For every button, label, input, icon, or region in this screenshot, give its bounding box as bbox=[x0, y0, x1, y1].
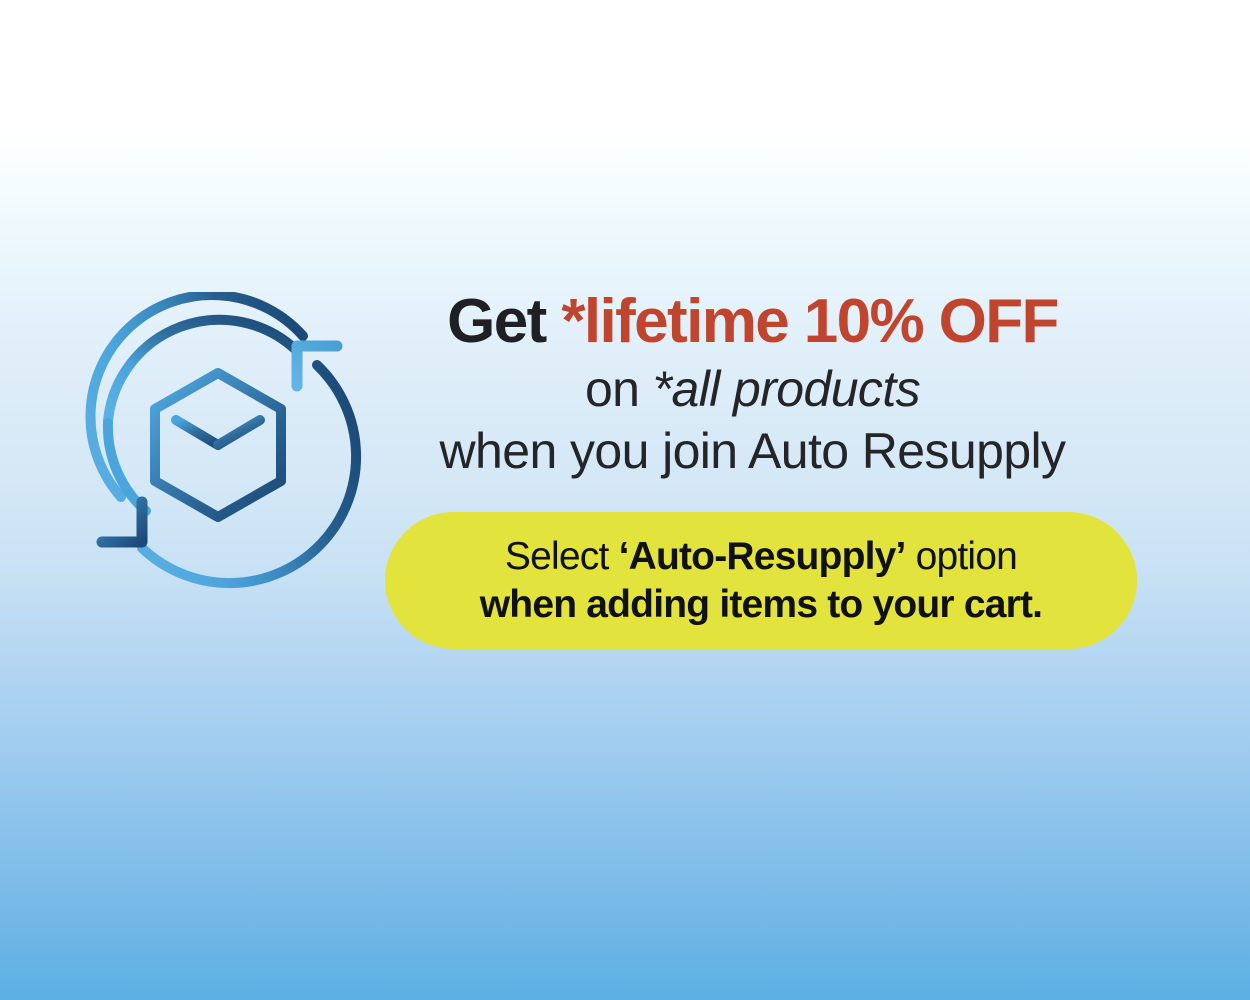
auto-resupply-callout-pill: Select ‘Auto-Resupply’ option when addin… bbox=[385, 512, 1137, 649]
promo-banner: Get *lifetime 10% OFF on *all products w… bbox=[0, 0, 1250, 1000]
headline-plain: Get bbox=[447, 287, 561, 356]
subline-products: on *all products bbox=[380, 358, 1125, 420]
pill-line-2: when adding items to your cart. bbox=[480, 581, 1042, 629]
pill-line-1-prefix: Select bbox=[505, 535, 619, 578]
pill-line-1-suffix: option bbox=[906, 535, 1018, 578]
subline-join: when you join Auto Resupply bbox=[380, 420, 1125, 482]
subline-products-emphasis: *all products bbox=[653, 361, 920, 417]
headline: Get *lifetime 10% OFF bbox=[380, 286, 1125, 358]
headline-accent: *lifetime 10% OFF bbox=[561, 287, 1058, 356]
pill-line-1-bold: ‘Auto-Resupply’ bbox=[619, 535, 906, 578]
auto-resupply-icon-svg bbox=[72, 292, 364, 592]
promo-copy: Get *lifetime 10% OFF on *all products w… bbox=[380, 286, 1125, 482]
auto-resupply-box-loop-icon bbox=[72, 292, 364, 592]
pill-line-1: Select ‘Auto-Resupply’ option bbox=[505, 533, 1017, 581]
subline-products-prefix: on bbox=[585, 361, 653, 417]
